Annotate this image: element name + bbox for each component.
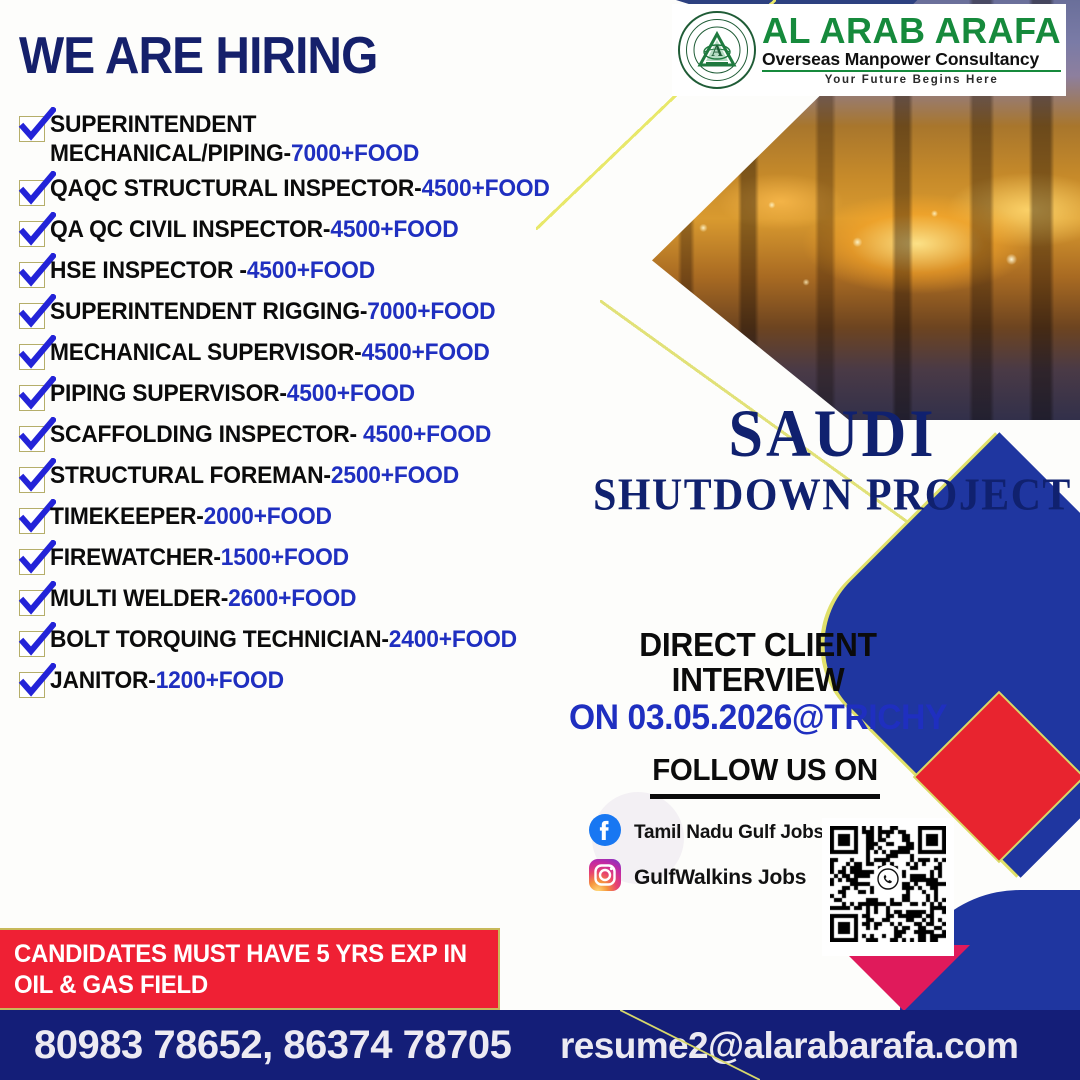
follow-us-title: FOLLOW US ON bbox=[608, 752, 922, 788]
job-list-item: PIPING SUPERVISOR-4500+FOOD bbox=[16, 377, 656, 414]
job-title: QAQC STRUCTURAL INSPECTOR- bbox=[50, 175, 422, 202]
checkbox-checked-icon bbox=[16, 667, 50, 701]
job-list-item: MULTI WELDER-2600+FOOD bbox=[16, 582, 656, 619]
job-list-item: QAQC STRUCTURAL INSPECTOR-4500+FOOD bbox=[16, 172, 656, 209]
job-title: SUPERINTENDENT RIGGING- bbox=[50, 298, 367, 325]
job-salary: 4500+FOOD bbox=[362, 339, 490, 366]
job-title: MECHANICAL SUPERVISOR- bbox=[50, 339, 362, 366]
triangle-globe-emblem-icon: A bbox=[678, 11, 756, 89]
job-salary: 1200+FOOD bbox=[156, 667, 284, 694]
qr-matrix bbox=[830, 826, 946, 942]
job-title: FIREWATCHER- bbox=[50, 544, 221, 571]
job-salary: 4500+FOOD bbox=[363, 421, 491, 448]
job-title: SCAFFOLDING INSPECTOR- bbox=[50, 421, 363, 448]
job-title: BOLT TORQUING TECHNICIAN- bbox=[50, 626, 389, 653]
job-list-item: FIREWATCHER-1500+FOOD bbox=[16, 541, 656, 578]
job-title-and-salary: FIREWATCHER-1500+FOOD bbox=[50, 541, 349, 572]
job-salary: 2500+FOOD bbox=[331, 462, 459, 489]
instagram-icon[interactable] bbox=[588, 858, 622, 897]
checkbox-checked-icon bbox=[16, 339, 50, 373]
refinery-lights bbox=[652, 185, 1080, 328]
checkbox-checked-icon bbox=[16, 298, 50, 332]
checkbox-checked-icon bbox=[16, 503, 50, 537]
job-list-item: SUPERINTENDENT MECHANICAL/PIPING-7000+FO… bbox=[16, 108, 656, 168]
job-title: QA QC CIVIL INSPECTOR- bbox=[50, 216, 330, 243]
logo-title: AL ARAB ARAFA bbox=[762, 14, 1061, 48]
checkbox-checked-icon bbox=[16, 380, 50, 414]
notice-line-2: OIL & GAS FIELD bbox=[14, 970, 479, 1001]
checkbox-checked-icon bbox=[16, 462, 50, 496]
interview-details: DIRECT CLIENT INTERVIEW ON 03.05.2026@TR… bbox=[548, 628, 968, 738]
job-salary: 4500+FOOD bbox=[247, 257, 375, 284]
contact-phone-numbers[interactable]: 80983 78652, 86374 78705 bbox=[34, 1022, 511, 1068]
job-title-and-salary: BOLT TORQUING TECHNICIAN-2400+FOOD bbox=[50, 623, 517, 654]
checkbox-checked-icon bbox=[16, 216, 50, 250]
job-title-and-salary: QA QC CIVIL INSPECTOR-4500+FOOD bbox=[50, 213, 458, 244]
company-logo: A AL ARAB ARAFA Overseas Manpower Consul… bbox=[672, 4, 1066, 96]
interview-type: DIRECT CLIENT INTERVIEW bbox=[556, 628, 959, 697]
project-type: SHUTDOWN PROJECT bbox=[580, 469, 1080, 520]
job-salary: 1500+FOOD bbox=[221, 544, 349, 571]
whatsapp-icon bbox=[874, 865, 902, 893]
job-list-item: STRUCTURAL FOREMAN-2500+FOOD bbox=[16, 459, 656, 496]
job-list-item: TIMEKEEPER-2000+FOOD bbox=[16, 500, 656, 537]
interview-date-location: ON 03.05.2026@TRICHY bbox=[556, 699, 959, 738]
svg-text:A: A bbox=[711, 43, 723, 60]
logo-subtitle: Overseas Manpower Consultancy bbox=[762, 49, 1061, 72]
job-title-and-salary: STRUCTURAL FOREMAN-2500+FOOD bbox=[50, 459, 459, 490]
instagram-page-name: GulfWalkins Jobs bbox=[634, 866, 806, 890]
footer-gold-diagonal bbox=[620, 1010, 760, 1080]
job-salary: 2000+FOOD bbox=[204, 503, 332, 530]
follow-us-divider bbox=[650, 794, 880, 799]
project-country: SAUDI bbox=[585, 402, 1080, 467]
job-title: TIMEKEEPER- bbox=[50, 503, 204, 530]
checkbox-checked-icon bbox=[16, 626, 50, 660]
job-title: SUPERINTENDENT MECHANICAL/PIPING- bbox=[50, 111, 291, 167]
contact-footer: 80983 78652, 86374 78705 resume2@alaraba… bbox=[0, 1010, 1080, 1080]
job-title-and-salary: SUPERINTENDENT MECHANICAL/PIPING-7000+FO… bbox=[50, 108, 419, 168]
checkbox-checked-icon bbox=[16, 421, 50, 455]
job-title: PIPING SUPERVISOR- bbox=[50, 380, 287, 407]
job-title-and-salary: QAQC STRUCTURAL INSPECTOR-4500+FOOD bbox=[50, 172, 550, 203]
experience-notice-banner: CANDIDATES MUST HAVE 5 YRS EXP IN OIL & … bbox=[0, 928, 500, 1010]
job-title: STRUCTURAL FOREMAN- bbox=[50, 462, 331, 489]
checkbox-checked-icon bbox=[16, 111, 50, 145]
job-list-item: QA QC CIVIL INSPECTOR-4500+FOOD bbox=[16, 213, 656, 250]
job-list-item: MECHANICAL SUPERVISOR-4500+FOOD bbox=[16, 336, 656, 373]
job-title: HSE INSPECTOR - bbox=[50, 257, 247, 284]
job-title-and-salary: MULTI WELDER-2600+FOOD bbox=[50, 582, 356, 613]
job-salary: 4500+FOOD bbox=[422, 175, 550, 202]
checkbox-checked-icon bbox=[16, 257, 50, 291]
job-title-and-salary: TIMEKEEPER-2000+FOOD bbox=[50, 500, 332, 531]
job-salary: 2400+FOOD bbox=[389, 626, 517, 653]
facebook-icon[interactable] bbox=[588, 813, 622, 852]
job-salary: 4500+FOOD bbox=[287, 380, 415, 407]
facebook-page-name: Tamil Nadu Gulf Jobs bbox=[634, 822, 824, 844]
job-list-item: SUPERINTENDENT RIGGING-7000+FOOD bbox=[16, 295, 656, 332]
job-salary: 2600+FOOD bbox=[228, 585, 356, 612]
job-title-and-salary: JANITOR-1200+FOOD bbox=[50, 664, 284, 695]
job-salary: 7000+FOOD bbox=[291, 140, 419, 167]
job-salary: 4500+FOOD bbox=[330, 216, 458, 243]
hiring-poster: A AL ARAB ARAFA Overseas Manpower Consul… bbox=[0, 0, 1080, 1080]
job-title-and-salary: SUPERINTENDENT RIGGING-7000+FOOD bbox=[50, 295, 495, 326]
job-salary: 7000+FOOD bbox=[367, 298, 495, 325]
job-title-and-salary: PIPING SUPERVISOR-4500+FOOD bbox=[50, 377, 415, 408]
checkbox-checked-icon bbox=[16, 585, 50, 619]
project-title: SAUDI SHUTDOWN PROJECT bbox=[585, 405, 1080, 517]
job-title: JANITOR- bbox=[50, 667, 156, 694]
job-title: MULTI WELDER- bbox=[50, 585, 228, 612]
job-list-item: SCAFFOLDING INSPECTOR- 4500+FOOD bbox=[16, 418, 656, 455]
job-title-and-salary: SCAFFOLDING INSPECTOR- 4500+FOOD bbox=[50, 418, 491, 449]
notice-line-1: CANDIDATES MUST HAVE 5 YRS EXP IN bbox=[14, 939, 479, 970]
checkbox-checked-icon bbox=[16, 544, 50, 578]
job-list-item: HSE INSPECTOR -4500+FOOD bbox=[16, 254, 656, 291]
checkbox-checked-icon bbox=[16, 175, 50, 209]
job-title-and-salary: MECHANICAL SUPERVISOR-4500+FOOD bbox=[50, 336, 490, 367]
whatsapp-qr-code[interactable] bbox=[822, 818, 954, 956]
page-title: WE ARE HIRING bbox=[19, 26, 377, 86]
logo-tagline: Your Future Begins Here bbox=[762, 74, 1061, 86]
job-list: SUPERINTENDENT MECHANICAL/PIPING-7000+FO… bbox=[16, 108, 656, 705]
job-title-and-salary: HSE INSPECTOR -4500+FOOD bbox=[50, 254, 375, 285]
